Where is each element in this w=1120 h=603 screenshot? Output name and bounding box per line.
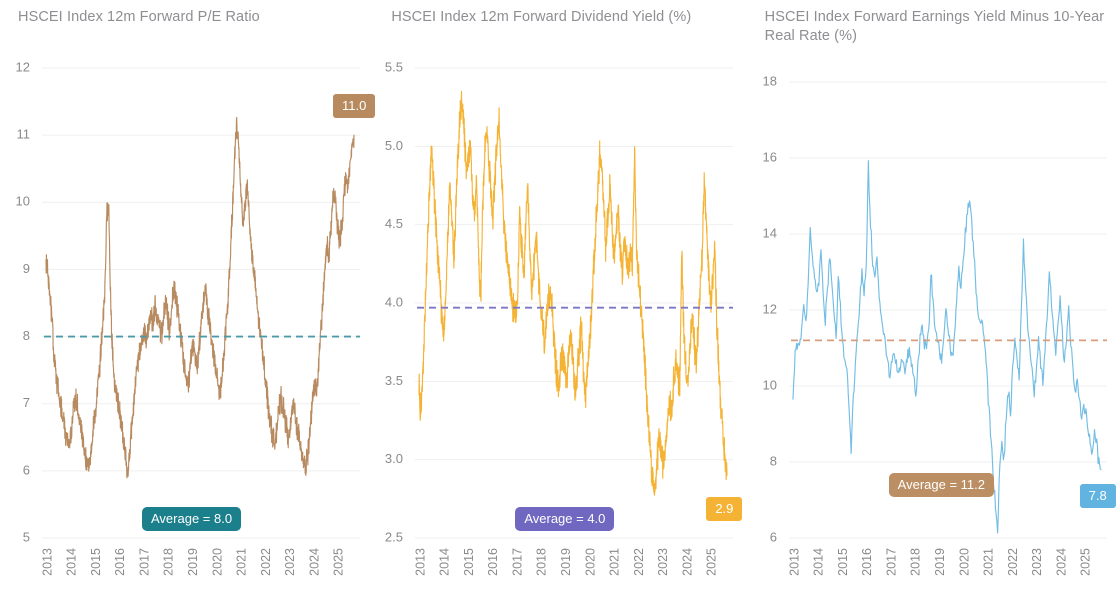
x-axis-tick-label: 2015 [836,548,850,576]
x-axis-tick-label: 2021 [608,548,622,576]
y-axis-tick-label: 2.5 [385,529,403,544]
x-axis-tick-label: 2022 [632,548,646,576]
y-axis-tick-label: 11 [17,127,31,142]
x-axis-tick-label: 2018 [162,548,176,576]
y-axis-tick-label: 12 [16,59,30,74]
x-axis-tick-label: 2020 [957,548,971,576]
y-axis-tick-label: 5 [23,529,30,544]
x-axis-tick-label: 2018 [908,548,922,576]
x-axis-tick-label: 2015 [462,548,476,576]
x-axis-tick-label: 2022 [1005,548,1019,576]
y-axis-tick-label: 12 [762,301,776,316]
y-axis-tick-label: 5.5 [385,59,403,74]
series-line [46,117,354,477]
x-axis-tick-label: 2016 [113,548,127,576]
x-axis-tick-label: 2020 [584,548,598,576]
x-axis-tick-label: 2019 [186,548,200,576]
x-axis-tick-label: 2019 [559,548,573,576]
last-value-badge-earnings-yield-minus-real-rate: 7.8 [1080,484,1116,508]
y-axis-tick-label: 8 [23,328,30,343]
y-axis-tick-label: 4.5 [385,216,403,231]
x-axis-tick-label: 2024 [681,548,695,576]
panel-dividend-yield: HSCEI Index 12m Forward Dividend Yield (… [373,0,746,603]
y-axis-tick-label: 10 [762,377,776,392]
x-axis-tick-label: 2018 [535,548,549,576]
x-axis-tick-label: 2017 [511,548,525,576]
x-axis-tick-label: 2023 [283,548,297,576]
x-axis-tick-label: 2019 [933,548,947,576]
x-axis-tick-label: 2022 [259,548,273,576]
x-axis-tick-label: 2016 [860,548,874,576]
last-value-badge-pe-ratio: 11.0 [333,94,375,118]
x-axis-tick-label: 2017 [884,548,898,576]
x-axis-tick-label: 2017 [137,548,151,576]
series-line [419,91,727,495]
x-axis-tick-label: 2013 [40,548,54,576]
x-axis-tick-label: 2023 [1030,548,1044,576]
x-axis-tick-label: 2014 [65,548,79,576]
y-axis-tick-label: 6 [769,529,776,544]
x-axis-tick-label: 2015 [89,548,103,576]
x-axis-tick-label: 2024 [307,548,321,576]
panel-pe-ratio: HSCEI Index 12m Forward P/E Ratio 567891… [0,0,373,603]
plot-area-earnings-yield-minus-real-rate: 6810121416182013201420152016201720182019… [747,0,1120,603]
average-badge-dividend-yield: Average = 4.0 [515,507,614,531]
y-axis-tick-label: 7 [23,395,30,410]
y-axis-tick-label: 16 [762,149,776,164]
x-axis-tick-label: 2013 [414,548,428,576]
y-axis-tick-label: 8 [769,453,776,468]
dashboard-root: HSCEI Index 12m Forward P/E Ratio 567891… [0,0,1120,603]
chart-svg-earnings-yield-minus-real-rate: 6810121416182013201420152016201720182019… [747,0,1120,603]
y-axis-tick-label: 3.0 [385,451,403,466]
x-axis-tick-label: 2025 [1078,548,1092,576]
y-axis-tick-label: 6 [23,462,30,477]
x-axis-tick-label: 2020 [210,548,224,576]
y-axis-tick-label: 18 [762,73,776,88]
x-axis-tick-label: 2025 [332,548,346,576]
last-value-badge-dividend-yield: 2.9 [706,497,742,521]
x-axis-tick-label: 2021 [981,548,995,576]
x-axis-tick-label: 2025 [705,548,719,576]
x-axis-tick-label: 2024 [1054,548,1068,576]
y-axis-tick-label: 5.0 [385,138,403,153]
y-axis-tick-label: 4.0 [385,294,403,309]
x-axis-tick-label: 2023 [656,548,670,576]
y-axis-tick-label: 3.5 [385,373,403,388]
y-axis-tick-label: 10 [16,194,30,209]
x-axis-tick-label: 2013 [787,548,801,576]
average-badge-pe-ratio: Average = 8.0 [142,507,241,531]
x-axis-tick-label: 2016 [486,548,500,576]
panel-earnings-yield-minus-real-rate: HSCEI Index Forward Earnings Yield Minus… [747,0,1120,603]
x-axis-tick-label: 2014 [438,548,452,576]
average-badge-earnings-yield-minus-real-rate: Average = 11.2 [889,473,994,497]
x-axis-tick-label: 2021 [235,548,249,576]
x-axis-tick-label: 2014 [811,548,825,576]
y-axis-tick-label: 9 [23,261,30,276]
y-axis-tick-label: 14 [762,225,776,240]
